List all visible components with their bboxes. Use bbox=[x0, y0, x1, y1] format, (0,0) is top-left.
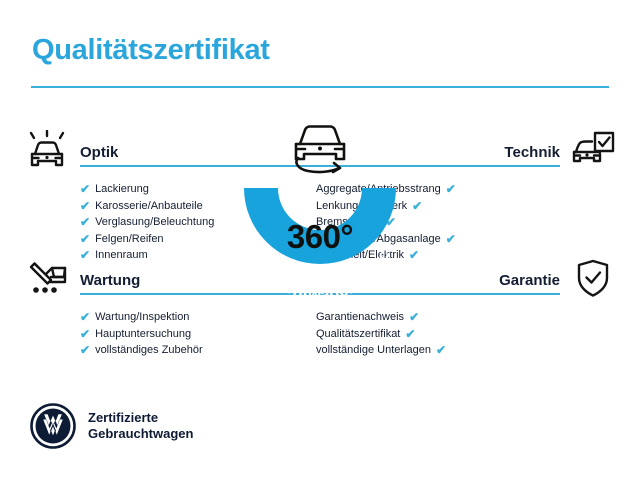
list-item-label: Lackierung bbox=[95, 181, 149, 198]
list-item: ✔Hauptuntersuchung bbox=[80, 326, 324, 343]
vw-logo-icon bbox=[30, 403, 76, 449]
checklist-wartung: ✔Wartung/Inspektion ✔Hauptuntersuchung ✔… bbox=[24, 309, 324, 359]
page-title: Qualitätszertifikat bbox=[32, 34, 270, 67]
check-icon: ✔ bbox=[80, 200, 90, 212]
list-item-label: Wartung/Inspektion bbox=[95, 309, 189, 326]
badge-center-label: 360° bbox=[222, 218, 418, 256]
quality-certificate-page: Qualitätszertifikat Optik ✔Lackierung bbox=[0, 0, 640, 480]
footer-brand: Zertifizierte Gebrauchtwagen bbox=[30, 403, 193, 449]
check-icon: ✔ bbox=[80, 344, 90, 356]
header-divider bbox=[31, 86, 609, 88]
list-item-label: vollständiges Zubehör bbox=[95, 342, 203, 359]
shield-check-icon bbox=[570, 258, 616, 300]
list-item-label: Verglasung/Beleuchtung bbox=[95, 214, 214, 231]
check-icon: ✔ bbox=[446, 183, 456, 195]
check-icon: ✔ bbox=[436, 344, 446, 356]
check-icon: ✔ bbox=[80, 183, 90, 195]
check-icon: ✔ bbox=[446, 233, 456, 245]
list-item-label: Felgen/Reifen bbox=[95, 231, 164, 248]
list-item: ✔vollständige Unterlagen bbox=[316, 342, 560, 359]
car-rotation-360-icon bbox=[282, 118, 358, 180]
check-icon: ✔ bbox=[80, 328, 90, 340]
check-icon: ✔ bbox=[80, 311, 90, 323]
list-item: ✔Qualitätszertifikat bbox=[316, 326, 560, 343]
check-icon: ✔ bbox=[405, 328, 415, 340]
list-item-label: Karosserie/Anbauteile bbox=[95, 198, 203, 215]
footer-line-1: Zertifizierte bbox=[88, 410, 193, 426]
list-item-label: Hauptuntersuchung bbox=[95, 326, 191, 343]
360-check-badge: Gebrauchtwagen-Check 360° bbox=[222, 118, 418, 314]
check-icon: ✔ bbox=[80, 216, 90, 228]
car-shine-icon bbox=[24, 130, 70, 172]
check-icon: ✔ bbox=[80, 233, 90, 245]
checklist-garantie: ✔Garantienachweis ✔Qualitätszertifikat ✔… bbox=[316, 309, 616, 359]
car-service-tool-icon bbox=[24, 258, 70, 300]
list-item-label: vollständige Unterlagen bbox=[316, 342, 431, 359]
footer-line-2: Gebrauchtwagen bbox=[88, 426, 193, 442]
footer-text: Zertifizierte Gebrauchtwagen bbox=[88, 410, 193, 442]
list-item-label: Qualitätszertifikat bbox=[316, 326, 400, 343]
car-checkbox-icon bbox=[570, 130, 616, 172]
list-item: ✔vollständiges Zubehör bbox=[80, 342, 324, 359]
